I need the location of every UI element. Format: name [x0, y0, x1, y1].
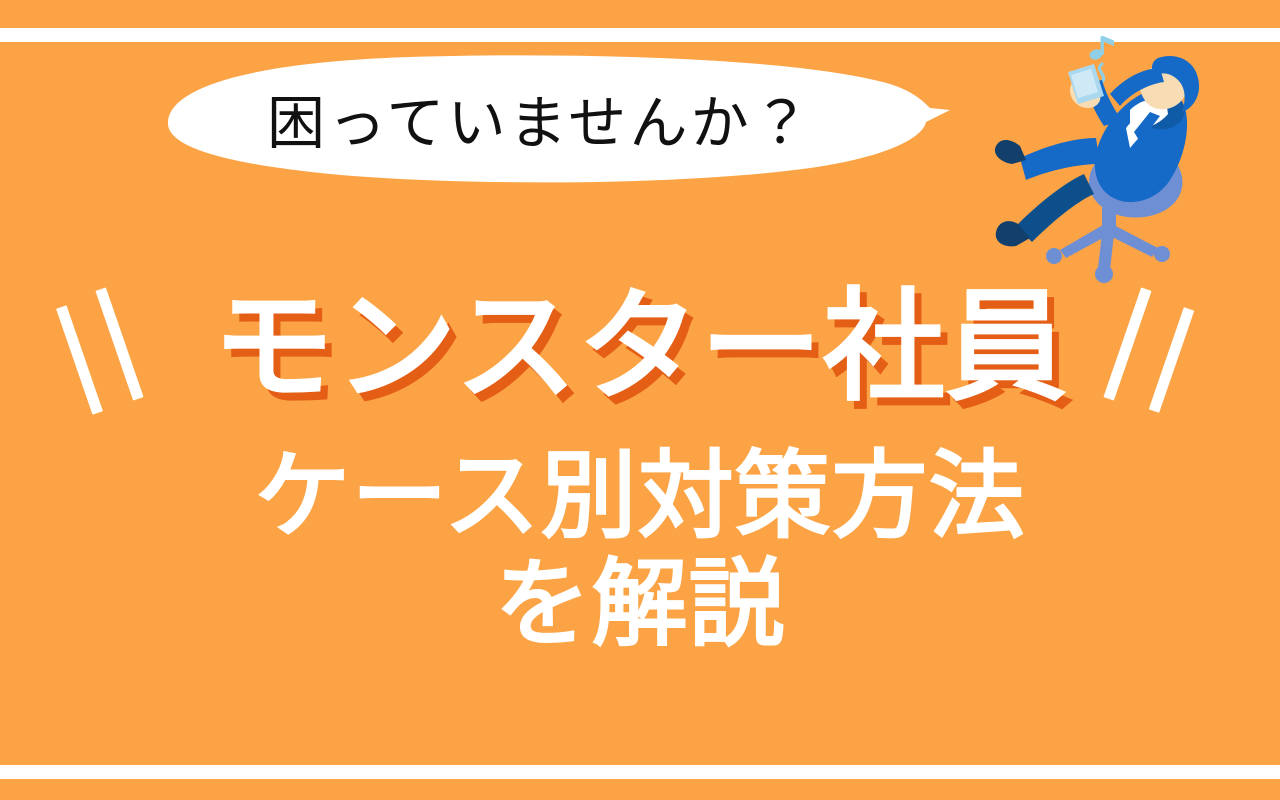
businessman-illustration [990, 34, 1200, 284]
slash-mark [1103, 287, 1151, 400]
bottom-stripe [0, 765, 1280, 779]
speech-bubble-text: 困っていませんか？ [160, 52, 920, 184]
slash-mark [1149, 307, 1195, 413]
slash-decoration-right [1108, 272, 1228, 422]
legs [1016, 138, 1100, 242]
headline-row: モンスター社員 [0, 272, 1280, 422]
subtitle-line-2: を解説 [0, 556, 1280, 652]
main-title: モンスター社員 [0, 272, 1280, 422]
music-note-icon [1088, 36, 1114, 61]
subtitle-line-1: ケース別対策方法 [0, 448, 1280, 544]
promo-banner: 困っていませんか？ [0, 0, 1280, 800]
speech-bubble: 困っていませんか？ [160, 52, 950, 184]
